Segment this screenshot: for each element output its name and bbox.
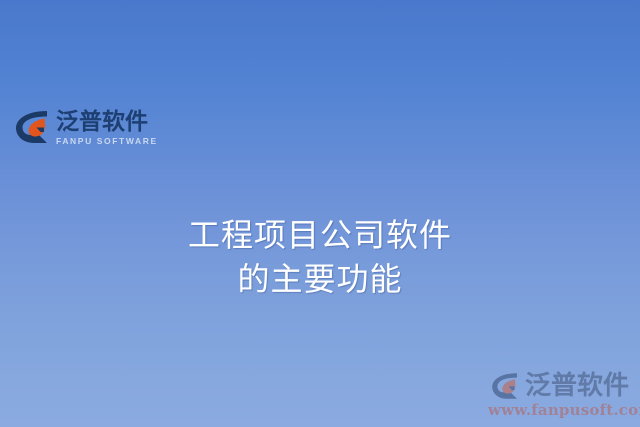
slide-canvas: 泛普软件 FANPU SOFTWARE 工程项目公司软件 的主要功能 泛普软件 …: [0, 0, 640, 427]
brand-wordmark: 泛普软件 FANPU SOFTWARE: [56, 108, 158, 146]
watermark-fanpu-logo-mark-icon: [488, 370, 522, 402]
watermark-logo-row: 泛普软件: [488, 370, 636, 402]
page-title-line-2: 的主要功能: [0, 257, 640, 301]
brand-name-en: FANPU SOFTWARE: [56, 136, 158, 146]
watermark: 泛普软件 www.fanpusoft.com: [488, 370, 636, 419]
watermark-url: www.fanpusoft.com: [488, 401, 636, 419]
brand-name-cn: 泛普软件: [56, 110, 158, 134]
brand-logo: 泛普软件 FANPU SOFTWARE: [14, 107, 158, 147]
page-title: 工程项目公司软件 的主要功能: [0, 213, 640, 301]
fanpu-logo-mark-icon: [14, 107, 50, 147]
page-title-line-1: 工程项目公司软件: [0, 213, 640, 257]
watermark-name-cn: 泛普软件: [525, 373, 629, 399]
